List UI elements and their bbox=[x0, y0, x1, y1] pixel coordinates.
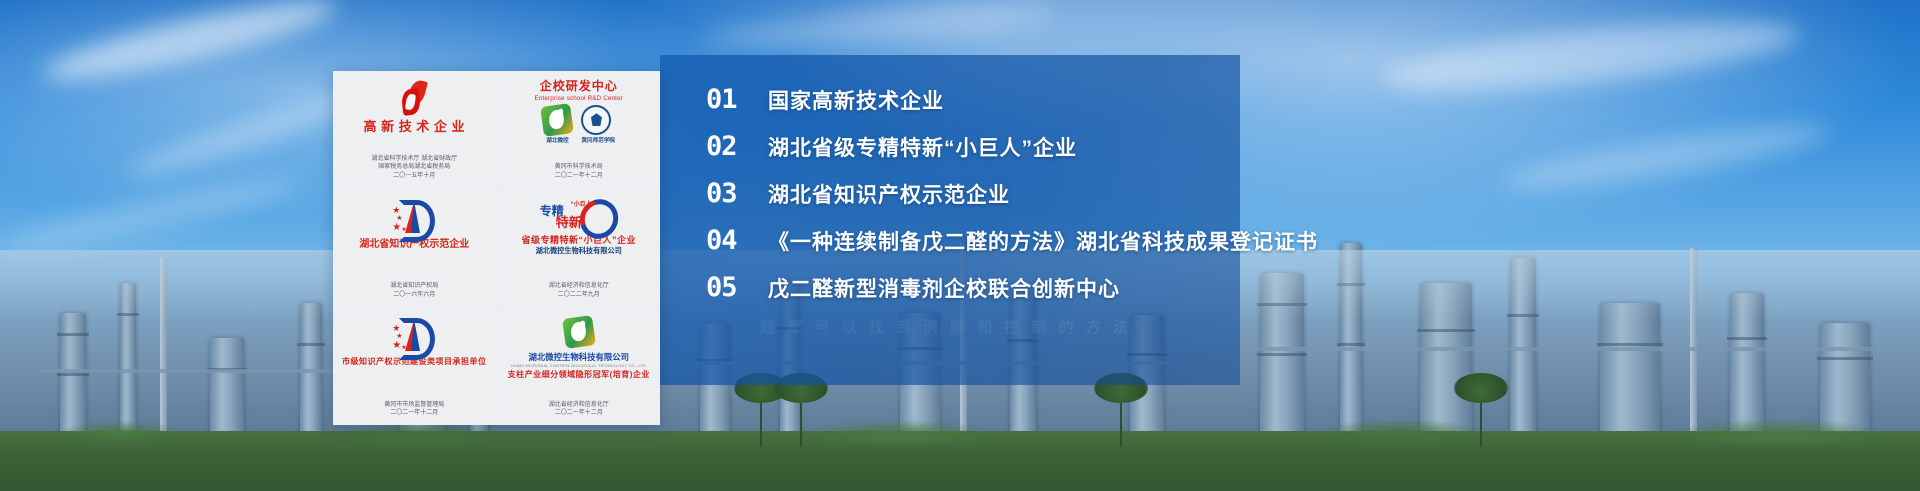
honor-item[interactable]: 05 戊二醛新型消毒剂企校联合创新中心 bbox=[706, 272, 1526, 303]
certificate-issuer: 黄冈市市场监督管理局 bbox=[384, 401, 444, 410]
honor-item[interactable]: 04 《一种连续制备戊二醛的方法》湖北省科技成果登记证书 bbox=[706, 225, 1526, 256]
honor-item[interactable]: 01 国家高新技术企业 bbox=[706, 84, 1526, 115]
honor-label: 湖北省知识产权示范企业 bbox=[768, 179, 1010, 209]
certificate-meta: 湖北省经济和信息化厅 二〇二一年十二月 bbox=[549, 401, 609, 421]
certificate-title: 省级专精特新“小巨人”企业 bbox=[521, 235, 636, 245]
certificate-title: 企校研发中心 bbox=[540, 80, 618, 94]
banner-stage: 全 题 都 可 以 找 到 消 除 和 控 制 的 方 法 01 国家高新技术企… bbox=[0, 0, 1920, 491]
honor-item[interactable]: 03 湖北省知识产权示范企业 bbox=[706, 178, 1526, 209]
certificate-title: 高 新 技 术 企 业 bbox=[363, 120, 465, 135]
certificate-issuer: 黄冈市科学技术局 bbox=[555, 163, 603, 172]
honors-list: 01 国家高新技术企业 02 湖北省级专精特新“小巨人”企业 03 湖北省知识产… bbox=[706, 84, 1526, 319]
certificate-meta: 湖北省科学技术厅 湖北省财政厅 国家税务总局湖北省税务局 二〇一五年十月 bbox=[371, 155, 457, 184]
honor-number: 03 bbox=[706, 178, 768, 209]
certificate-card-city-ip-project[interactable]: ★★★★ 市级知识产权示范建设类项目承担单位 黄冈市市场监督管理局 二〇二一年十… bbox=[333, 308, 496, 425]
logo-caption: 黄冈师范学院 bbox=[581, 136, 615, 144]
certificate-issuer: 湖北省科学技术厅 湖北省财政厅 bbox=[371, 155, 457, 164]
logo-caption: 湖北微控 bbox=[542, 136, 572, 144]
certificate-issuer: 湖北省经济和信息化厅 bbox=[549, 401, 609, 410]
certificate-issuer: 湖北省知识产权局 bbox=[390, 282, 438, 291]
certificate-date: 二〇一五年十月 bbox=[371, 172, 457, 181]
certificate-title-en: Enterprise school R&D Center bbox=[535, 95, 623, 102]
honor-label: 国家高新技术企业 bbox=[768, 85, 944, 115]
certificate-title: 支柱产业细分领域隐形冠军(培育)企业 bbox=[508, 370, 650, 379]
honor-number: 05 bbox=[706, 272, 768, 303]
star-sail-icon: ★★★★ bbox=[392, 315, 436, 355]
company-name-en: HUBEI MICROBIAL CONTROL BIOLOGICAL TECHN… bbox=[511, 363, 646, 368]
certificate-date: 二〇二二年九月 bbox=[549, 291, 609, 300]
swan-icon bbox=[564, 315, 594, 349]
logo-word-2: 特新 bbox=[556, 212, 582, 231]
cloud-shape bbox=[39, 0, 340, 93]
honor-number: 02 bbox=[706, 131, 768, 162]
certificate-card-ip-demo[interactable]: ★★★★ 湖北省知识产权示范企业 湖北省知识产权局 二〇一六年六月 bbox=[333, 190, 496, 307]
certificate-date: 二〇二一年十二月 bbox=[549, 409, 609, 418]
ground-greenery bbox=[0, 431, 1920, 491]
swan-icon bbox=[541, 103, 575, 137]
certificate-card-rd-center[interactable]: 企校研发中心 Enterprise school R&D Center 湖北微控… bbox=[498, 71, 661, 188]
certificate-subtitle: 湖北微控生物科技有限公司 bbox=[536, 246, 622, 255]
honor-label: 《一种连续制备戊二醛的方法》湖北省科技成果登记证书 bbox=[768, 226, 1318, 256]
certificate-card-little-giant[interactable]: 专精 特新 “小巨人” 省级专精特新“小巨人”企业 湖北微控生物科技有限公司 湖… bbox=[498, 190, 661, 307]
honor-number: 04 bbox=[706, 225, 768, 256]
certificate-date: 二〇二一年十二月 bbox=[384, 409, 444, 418]
certificate-date: 二〇二一年十二月 bbox=[555, 172, 603, 181]
flame-icon bbox=[399, 78, 429, 118]
honor-item[interactable]: 02 湖北省级专精特新“小巨人”企业 bbox=[706, 131, 1526, 162]
logo-tag: “小巨人” bbox=[571, 199, 595, 208]
honor-label: 戊二醛新型消毒剂企校联合创新中心 bbox=[768, 273, 1120, 303]
certificate-meta: 黄冈市科学技术局 二〇二一年十二月 bbox=[555, 163, 603, 183]
certificate-grid: 高 新 技 术 企 业 湖北省科学技术厅 湖北省财政厅 国家税务总局湖北省税务局… bbox=[333, 71, 660, 425]
honor-label: 湖北省级专精特新“小巨人”企业 bbox=[768, 132, 1077, 162]
cloud-shape bbox=[0, 169, 300, 261]
cloud-shape bbox=[699, 0, 1060, 56]
certificate-date: 二〇一六年六月 bbox=[390, 291, 438, 300]
certificate-meta: 湖北省知识产权局 二〇一六年六月 bbox=[390, 282, 438, 302]
certificate-issuer: 湖北省经济和信息化厅 bbox=[549, 282, 609, 291]
star-sail-icon: ★★★★ bbox=[392, 197, 436, 237]
certificate-meta: 黄冈市市场监督管理局 二〇二一年十二月 bbox=[384, 401, 444, 421]
honor-number: 01 bbox=[706, 84, 768, 115]
university-crest-icon bbox=[581, 105, 611, 135]
partner-logos: 湖北微控 黄冈师范学院 bbox=[542, 105, 615, 144]
certificate-card-hidden-champion[interactable]: 湖北微控生物科技有限公司 HUBEI MICROBIAL CONTROL BIO… bbox=[498, 308, 661, 425]
certificate-meta: 湖北省经济和信息化厅 二〇二二年九月 bbox=[549, 282, 609, 302]
certificate-issuer: 国家税务总局湖北省税务局 bbox=[371, 163, 457, 172]
cloud-shape bbox=[1499, 114, 1830, 199]
zhuanjing-texin-icon: 专精 特新 “小巨人” bbox=[540, 197, 618, 233]
certificate-card-high-tech[interactable]: 高 新 技 术 企 业 湖北省科学技术厅 湖北省财政厅 国家税务总局湖北省税务局… bbox=[333, 71, 496, 188]
company-name: 湖北微控生物科技有限公司 bbox=[529, 352, 630, 363]
